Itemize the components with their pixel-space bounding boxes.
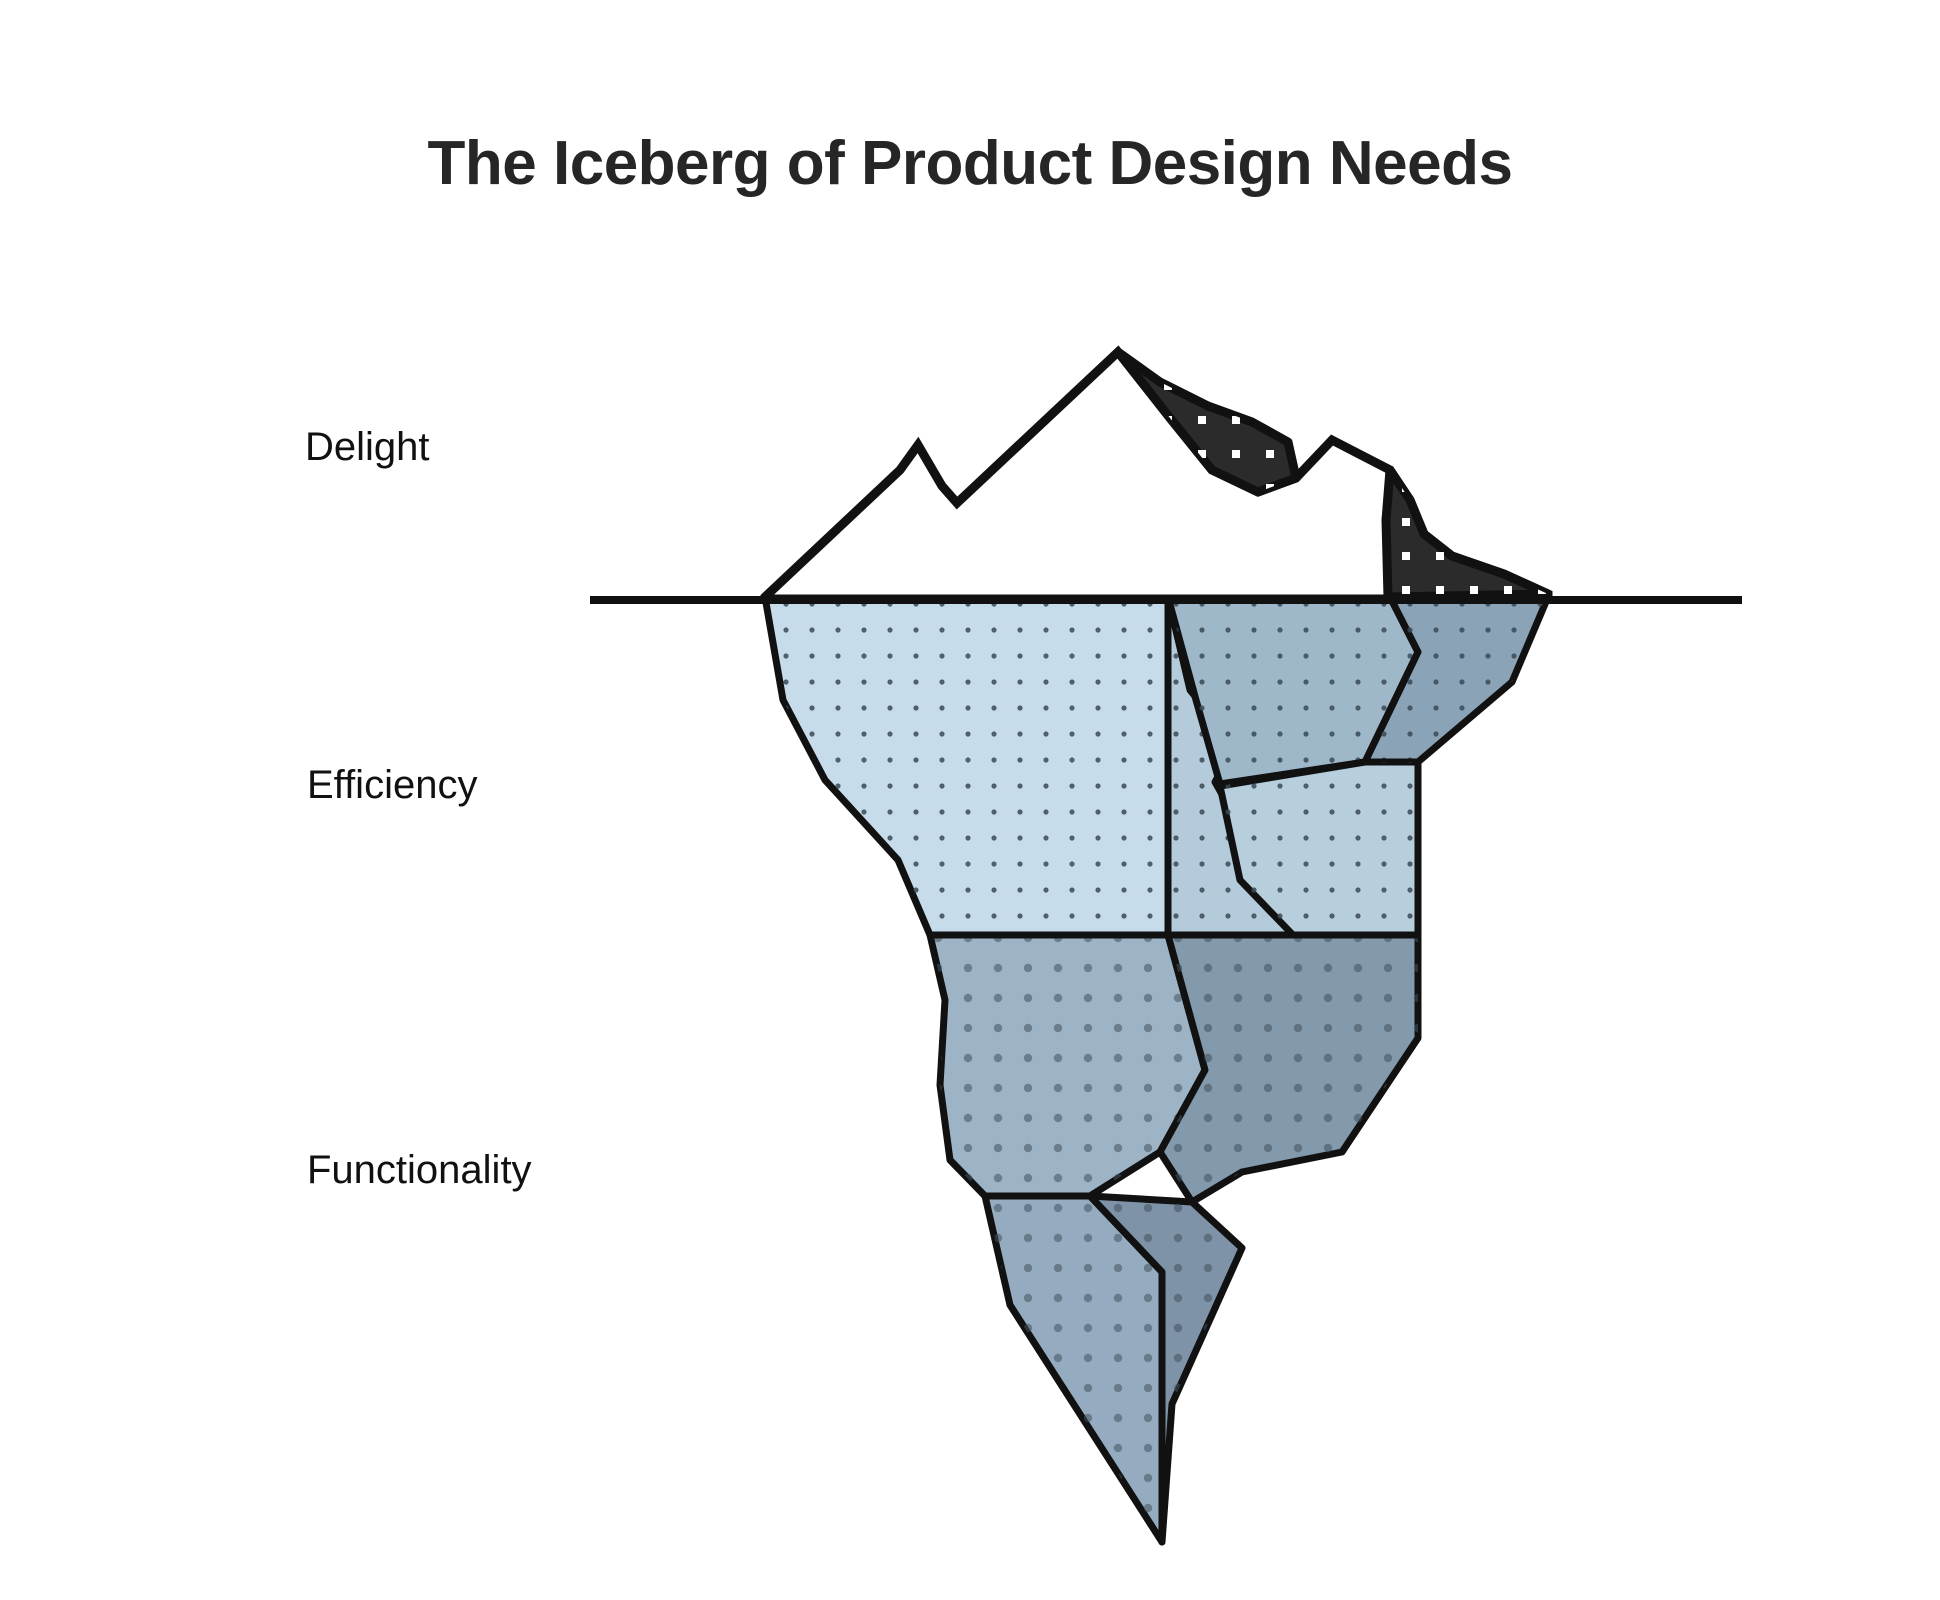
facet-efficiency-left xyxy=(765,597,1168,935)
iceberg-underwater-group xyxy=(765,597,1548,1542)
iceberg-above-water-group xyxy=(765,352,1548,599)
iceberg-illustration xyxy=(0,0,1940,1600)
peak-shadow-right xyxy=(1386,470,1548,597)
iceberg-diagram-page: The Iceberg of Product Design Needs Deli… xyxy=(0,0,1940,1600)
